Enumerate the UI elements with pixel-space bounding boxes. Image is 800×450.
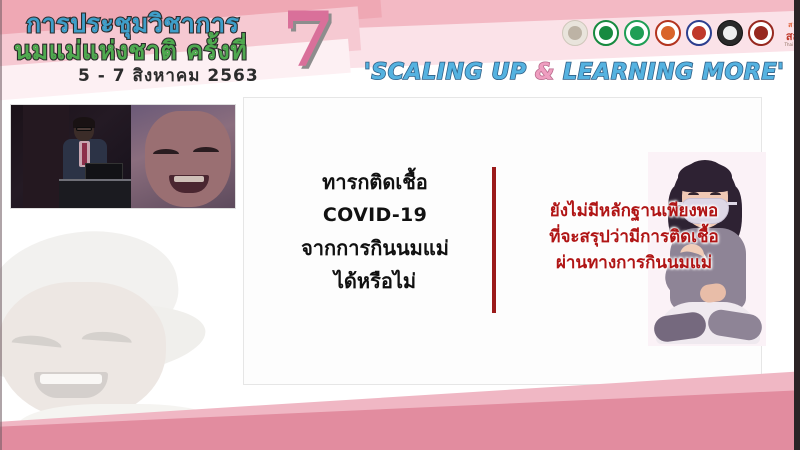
- slogan-ampersand: &: [535, 60, 555, 85]
- baby-teeth: [174, 176, 204, 182]
- logo-royal-emblem: [562, 20, 588, 46]
- slogan-suffix: LEARNING MORE': [555, 60, 785, 85]
- question-line-1: ทารกติดเชื้อ: [275, 166, 475, 199]
- watermark-child-photo: [0, 228, 250, 428]
- podium: [59, 179, 131, 209]
- slide-number: 6: [738, 382, 743, 391]
- logo-medical-council: [748, 20, 774, 46]
- background-band-bottom-dark: [0, 387, 800, 450]
- letterbox-edge-right: [794, 0, 800, 450]
- slogan-prefix: 'SCALING UP: [364, 60, 535, 85]
- baby-eye-right: [193, 147, 219, 152]
- logo-ministry-public-health: [593, 20, 619, 46]
- baby-eye-left: [153, 149, 179, 154]
- conference-slogan: 'SCALING UP & LEARNING MORE': [364, 60, 784, 85]
- conference-date: 5 - 7 สิงหาคม 2563: [78, 62, 259, 89]
- speaker-tie: [82, 143, 87, 165]
- logo-black-emblem: [717, 20, 743, 46]
- answer-line-2: ที่จะสรุปว่ามีการติดเชื้อ: [498, 224, 770, 250]
- answer-line-3: ผ่านทางการกินนมแม่: [498, 250, 770, 276]
- logo-university: [686, 20, 712, 46]
- logo-pediatric-society: [655, 20, 681, 46]
- conference-edition-number: 7: [282, 2, 335, 78]
- speaker-glasses-icon: [76, 127, 92, 131]
- question-line-2: COVID-19: [275, 199, 475, 232]
- presentation-video-feed[interactable]: [10, 104, 236, 209]
- letterbox-edge-left: [0, 0, 2, 450]
- slide-answer-block: ยังไม่มีหลักฐานเพียงพอ ที่จะสรุปว่ามีการ…: [498, 198, 770, 276]
- presentation-slide: การประชุมวิชาการ นมแม่แห่งชาติ ครั้งที่ …: [0, 0, 800, 450]
- question-line-3: จากการกินนมแม่: [275, 232, 475, 265]
- logo-health-department: [624, 20, 650, 46]
- vertical-divider: [492, 167, 496, 313]
- sponsor-logo-row: สสส สสส Thai Health: [562, 20, 800, 46]
- slide-question-block: ทารกติดเชื้อ COVID-19 จากการกินนมแม่ ได้…: [275, 166, 475, 298]
- question-line-4: ได้หรือไม่: [275, 265, 475, 298]
- answer-line-1: ยังไม่มีหลักฐานเพียงพอ: [498, 198, 770, 224]
